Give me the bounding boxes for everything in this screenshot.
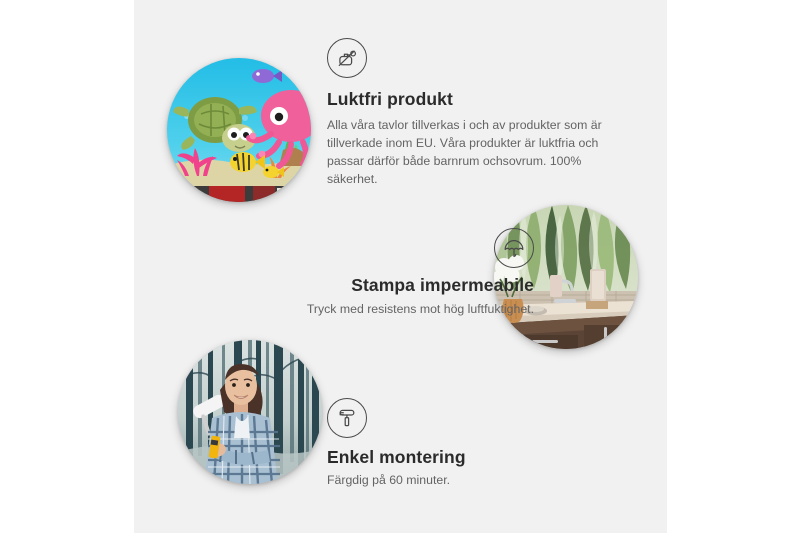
- feature-odorless: Luktfri produkt Alla våra tavlor tillver…: [327, 38, 617, 188]
- no-odor-spray-bottle-icon: [327, 38, 367, 78]
- content-panel: Luktfri produkt Alla våra tavlor tillver…: [134, 0, 667, 533]
- feature-body: Tryck med resistens mot hög luftfuktighe…: [204, 300, 534, 318]
- feature-title: Enkel montering: [327, 447, 607, 468]
- product-feature-banner: Luktfri produkt Alla våra tavlor tillver…: [0, 0, 800, 533]
- feature-body: Färgdig på 60 minuter.: [327, 471, 607, 489]
- product-photo-ocean[interactable]: [167, 58, 311, 202]
- paint-roller-icon: [327, 398, 367, 438]
- feature-waterproof: Stampa impermeabile Tryck med resistens …: [204, 228, 534, 318]
- feature-title: Stampa impermeabile: [204, 275, 534, 296]
- feature-body: Alla våra tavlor tillverkas i och av pro…: [327, 116, 612, 188]
- product-photo-painter[interactable]: [178, 340, 322, 484]
- umbrella-icon: [494, 228, 534, 268]
- feature-title: Luktfri produkt: [327, 89, 617, 110]
- feature-easy-mount: Enkel montering Färgdig på 60 minuter.: [327, 398, 607, 489]
